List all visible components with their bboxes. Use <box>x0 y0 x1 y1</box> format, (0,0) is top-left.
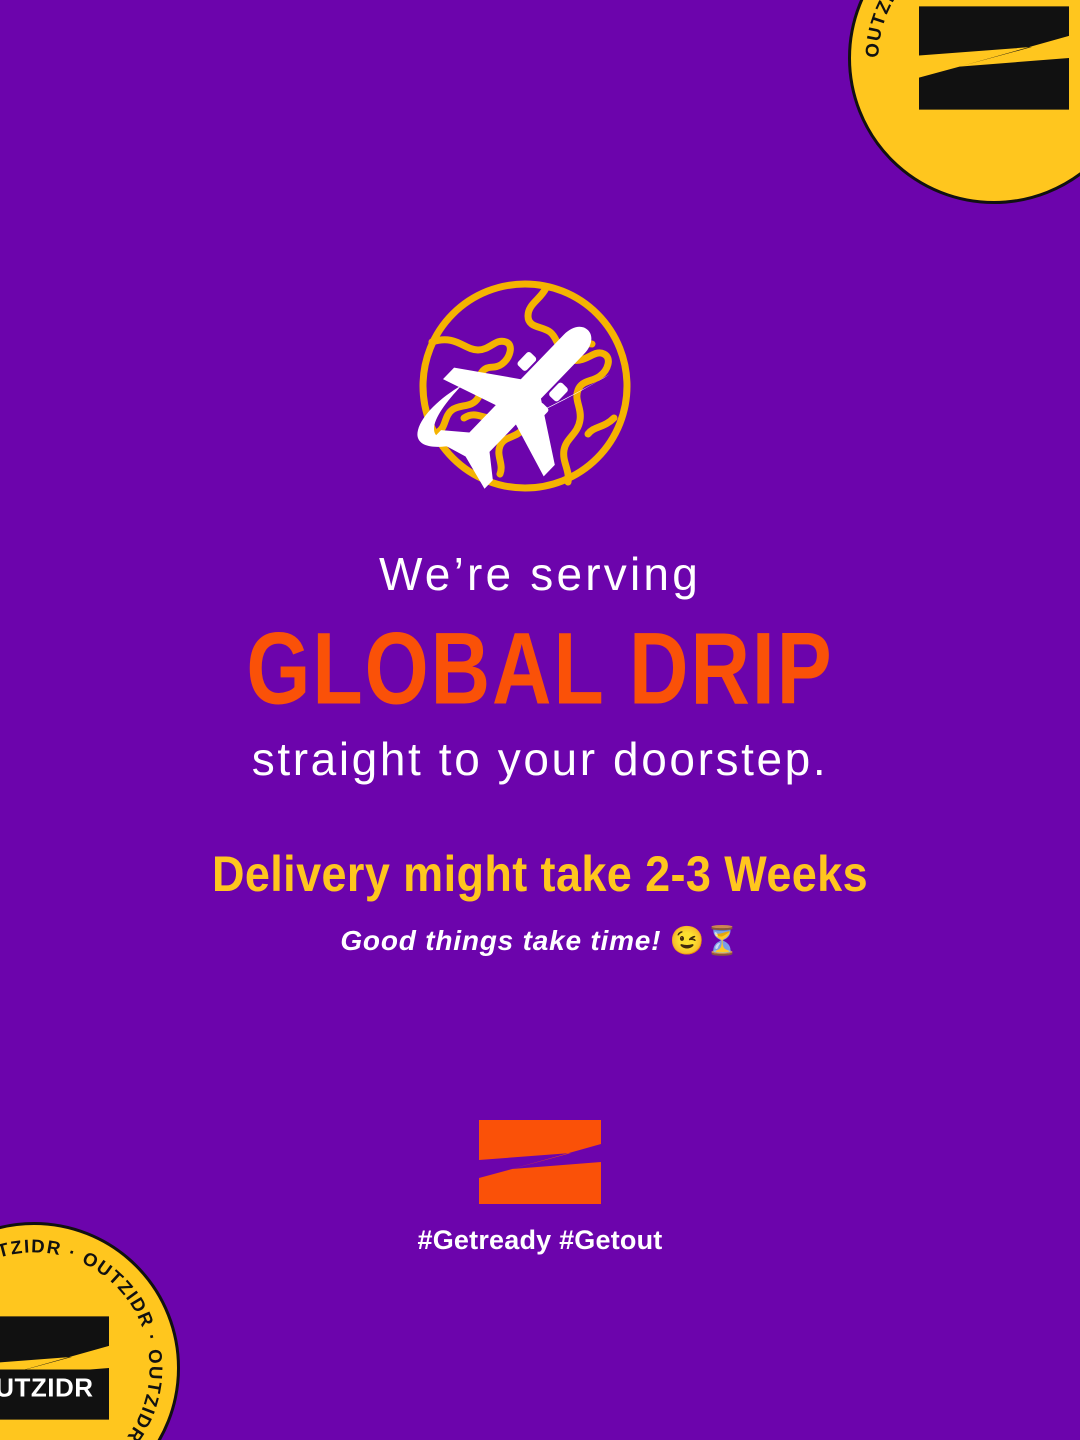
eyebrow-text: We’re serving <box>0 548 1080 601</box>
headline-text: GLOBAL DRIP <box>11 611 1069 726</box>
outzidr-badge-top-right: OUTZIDR · OUTZIDR · OUTZIDR · OUTZIDR · <box>848 0 1080 204</box>
delivery-note-text: Delivery might take 2-3 Weeks <box>0 844 1080 904</box>
winking-face-emoji: 😉 <box>670 925 705 956</box>
reassurance-label: Good things take time! <box>340 925 661 956</box>
hourglass-emoji: ⏳ <box>705 925 740 956</box>
promo-poster: We’re serving GLOBAL DRIP straight to yo… <box>0 0 1080 1440</box>
outzidr-z-logo <box>479 1120 601 1204</box>
badge-mark-top-right <box>919 6 1069 110</box>
globe-plane-illustration <box>360 268 720 508</box>
badge-wordmark-bottom-left: OUTZIDR <box>0 1370 103 1407</box>
airplane-icon <box>408 281 638 508</box>
poster-copy: We’re serving GLOBAL DRIP straight to yo… <box>0 548 1080 957</box>
outzidr-badge-bottom-left: OUTZIDR · OUTZIDR · OUTZIDR · OUTZIDR · … <box>0 1222 180 1440</box>
subheadline-text: straight to your doorstep. <box>0 733 1080 786</box>
reassurance-text: Good things take time! 😉⏳ <box>0 924 1080 958</box>
